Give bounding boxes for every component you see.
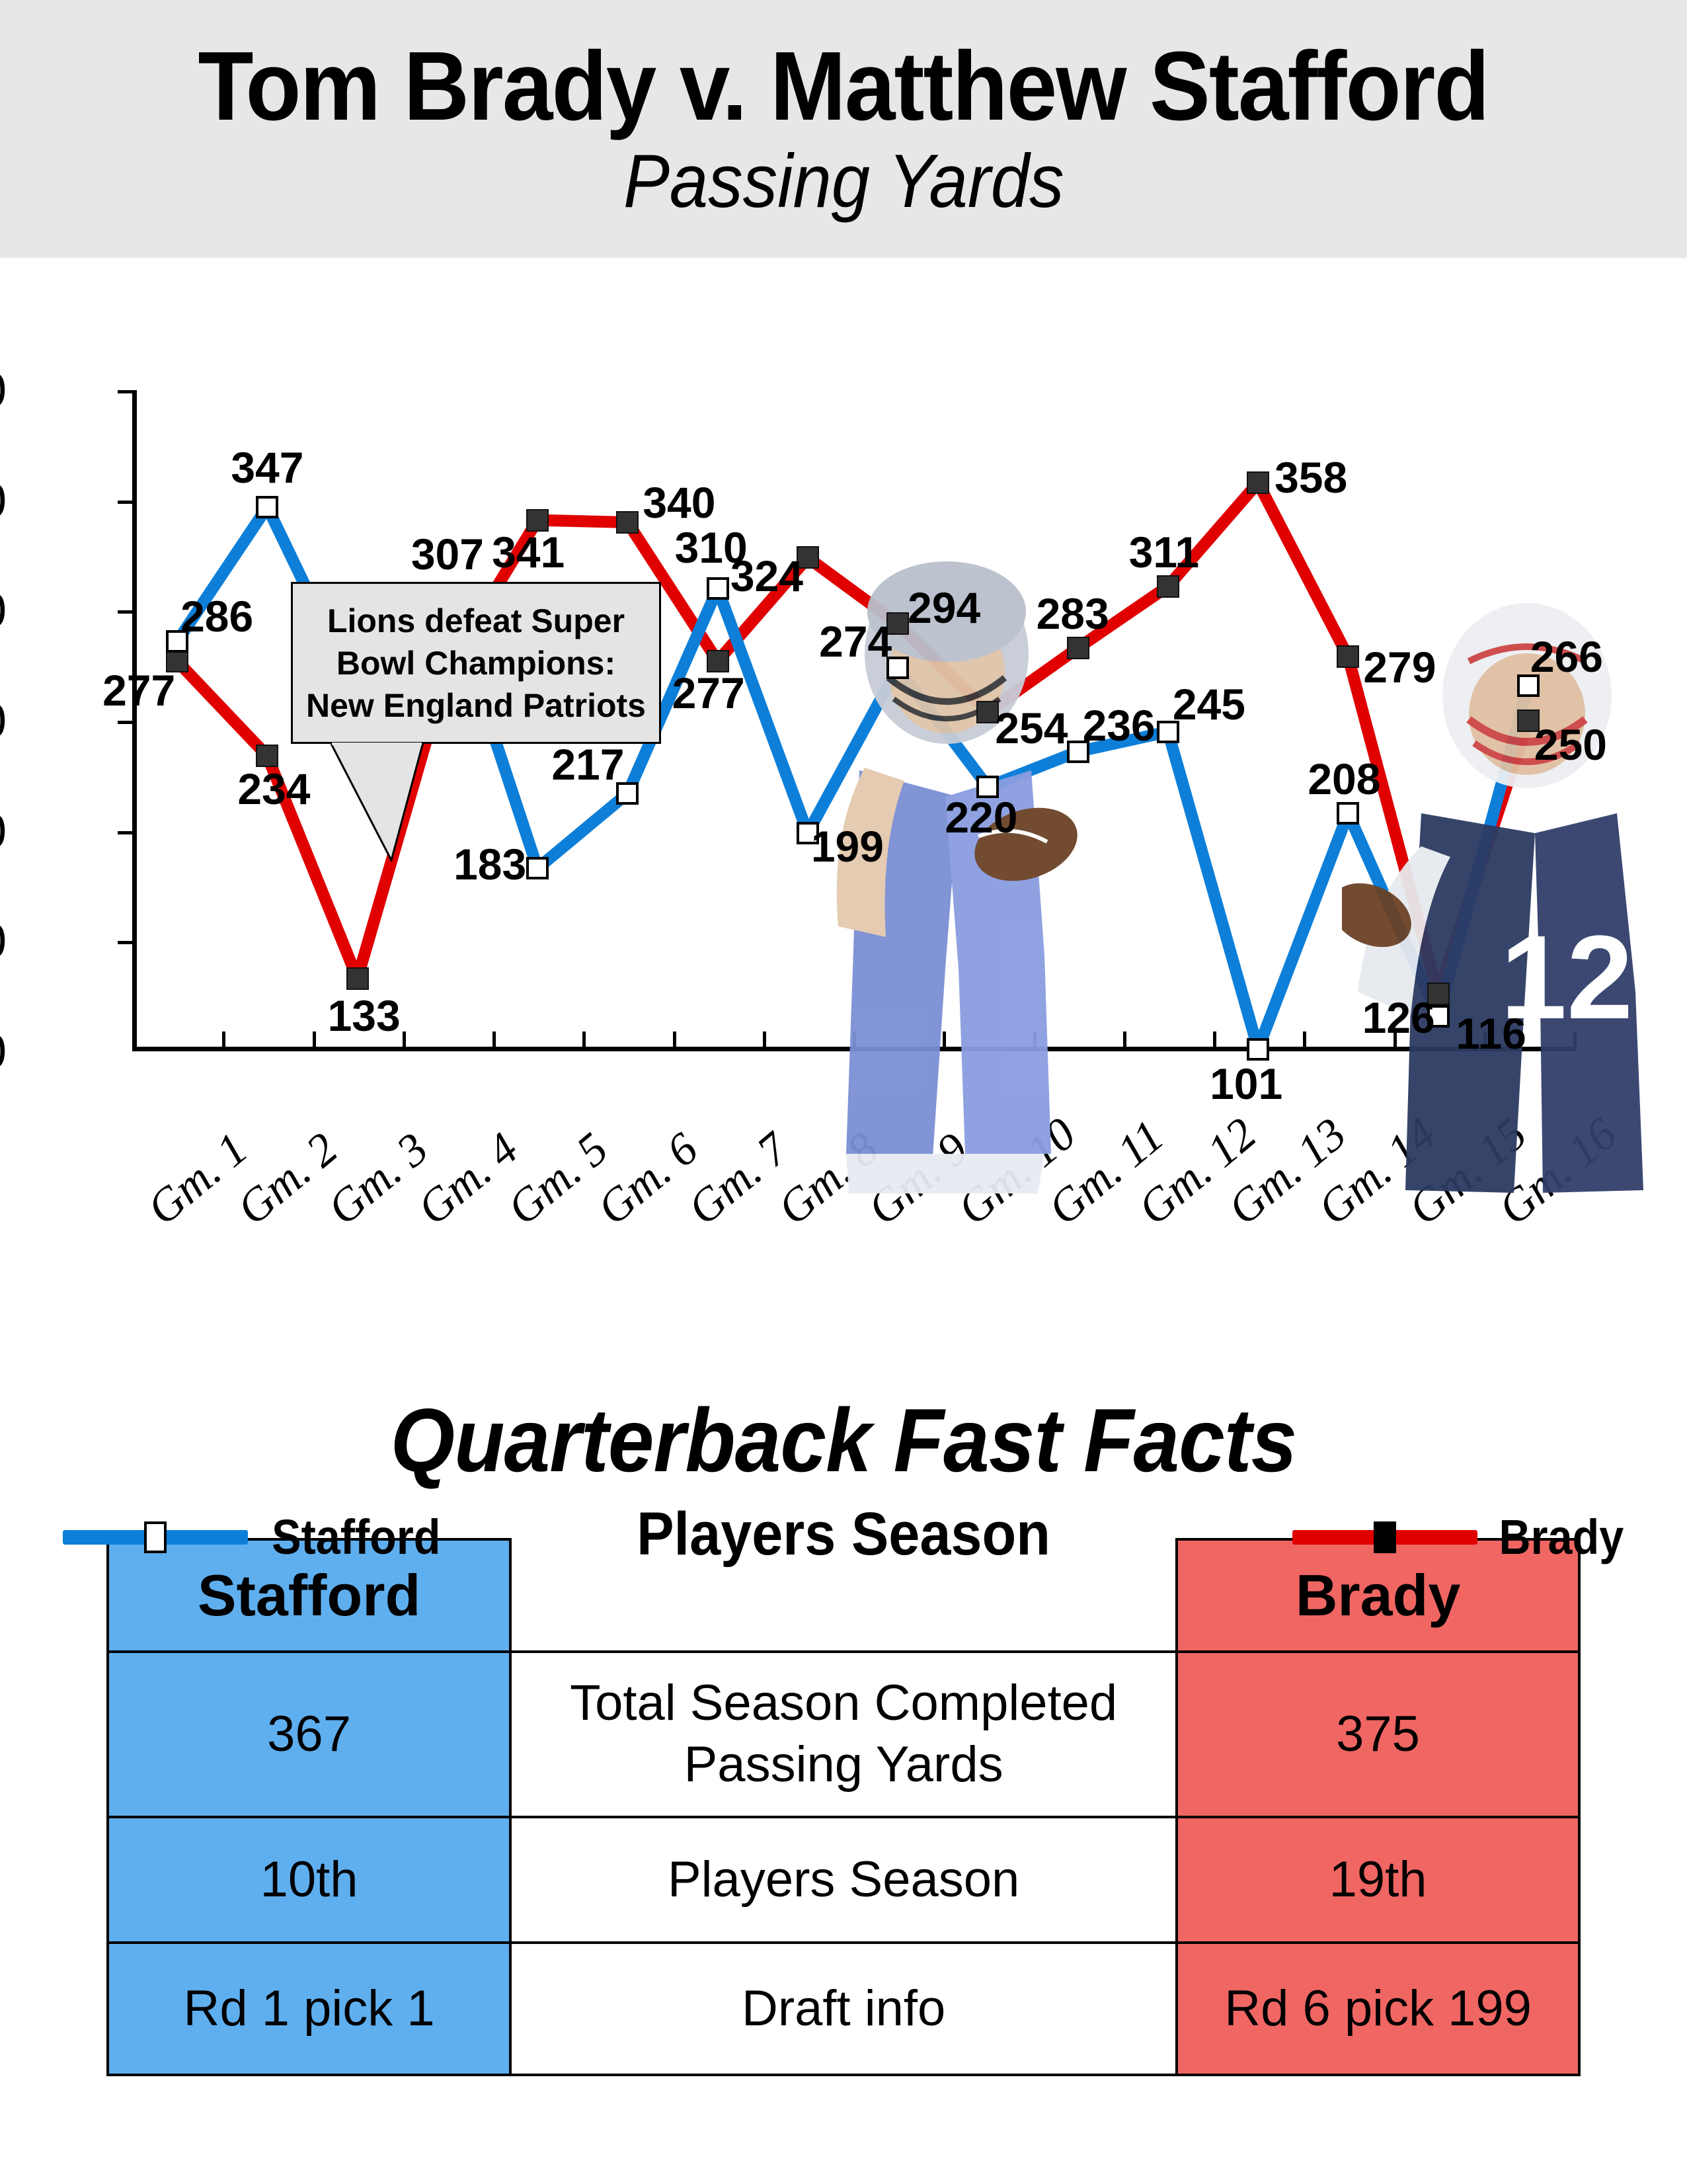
annotation-pointer: [331, 743, 443, 862]
data-point-label: 283: [1037, 588, 1109, 639]
x-axis-tick-label: Gm. 6: [588, 1123, 709, 1236]
data-point-marker: [1157, 575, 1179, 598]
data-point-marker: [1247, 471, 1269, 494]
x-axis-tick-label: Gm. 7: [678, 1123, 799, 1236]
data-point-label: 266: [1530, 631, 1603, 682]
data-point-label: 250: [1534, 719, 1607, 770]
filled-square-marker-icon: [1374, 1521, 1396, 1553]
y-axis-tick-label: 400: [0, 362, 7, 419]
data-point-label: 294: [908, 583, 980, 633]
legend-item-brady[interactable]: Brady: [1292, 1509, 1631, 1565]
page-header: Tom Brady v. Matthew Stafford Passing Ya…: [0, 0, 1687, 258]
y-axis-tick-mark: [118, 390, 132, 393]
x-axis-tick-mark: [313, 1031, 316, 1051]
data-point-label: 208: [1308, 754, 1380, 804]
x-axis-tick-mark: [1123, 1031, 1126, 1051]
cell-label-passing-yards: Total Season Completed Passing Yards: [510, 1652, 1177, 1817]
x-axis-tick-label: Gm. 2: [227, 1123, 348, 1236]
x-axis-tick-mark: [222, 1031, 225, 1051]
data-point-label: 236: [1083, 700, 1156, 750]
table-row: 367 Total Season Completed Passing Yards…: [108, 1652, 1579, 1817]
x-axis-tick-label: Gm. 5: [498, 1123, 619, 1236]
x-axis-tick-mark: [853, 1031, 856, 1051]
y-axis-tick-mark: [118, 501, 132, 504]
data-point-label: 183: [453, 839, 526, 889]
x-axis-tick-mark: [403, 1031, 406, 1051]
data-point-marker: [256, 496, 278, 518]
table-row: Rd 1 pick 1 Draft info Rd 6 pick 199: [108, 1943, 1579, 2075]
data-point-label: 286: [180, 591, 253, 641]
annotation-text: Lions defeat Super Bowl Champions: New E…: [293, 600, 659, 727]
data-point-marker: [1337, 802, 1359, 825]
cell-label-draft: Draft info: [510, 1943, 1177, 2075]
y-axis-tick-label: 350: [0, 472, 7, 528]
data-point-label: 133: [328, 991, 401, 1041]
data-point-label: 245: [1173, 679, 1245, 729]
data-point-label: 126: [1362, 992, 1435, 1043]
data-point-marker: [707, 577, 729, 600]
data-point-label: 220: [945, 792, 1017, 842]
x-axis-tick-mark: [1573, 1031, 1577, 1051]
y-axis-tick-label: 100: [0, 1024, 7, 1080]
x-axis-tick-mark: [673, 1031, 676, 1051]
table-row: 10th Players Season 19th: [108, 1817, 1579, 1943]
cell-stafford-draft: Rd 1 pick 1: [108, 1943, 510, 2075]
cell-stafford-season: 10th: [108, 1817, 510, 1943]
x-axis-tick-mark: [1033, 1031, 1037, 1051]
y-axis-tick-mark: [118, 610, 132, 614]
data-point-label: 341: [492, 527, 565, 577]
x-axis-tick-label: Gm. 1: [137, 1123, 258, 1236]
page-subtitle: Passing Yards: [623, 142, 1064, 222]
x-axis-tick-mark: [763, 1031, 766, 1051]
quarterback-facts-table: Stafford Brady 367 Total Season Complete…: [106, 1538, 1581, 2076]
chart-container: 12 2863472623071832173101992742202362451…: [0, 258, 1687, 1349]
annotation-callout: Lions defeat Super Bowl Champions: New E…: [291, 582, 661, 744]
cell-brady-passing-yards: 375: [1177, 1652, 1579, 1817]
data-point-label: 234: [237, 764, 310, 814]
x-axis-tick-mark: [1303, 1031, 1306, 1051]
data-point-label: 217: [551, 739, 624, 789]
chart-legend: Stafford Brady: [0, 1501, 1687, 1587]
data-point-marker: [1067, 637, 1089, 659]
x-axis-tick-label: Gm. 3: [318, 1123, 439, 1236]
data-point-label: 199: [811, 821, 884, 871]
data-point-label: 324: [730, 551, 803, 601]
cell-brady-season: 19th: [1177, 1817, 1579, 1943]
data-point-label: 254: [995, 703, 1068, 753]
stafford-legend-swatch: [63, 1530, 248, 1545]
data-point-label: 311: [1129, 527, 1199, 577]
y-axis-tick-label: 200: [0, 803, 7, 859]
y-axis-tick-mark: [118, 721, 132, 724]
data-point-label: 307: [411, 529, 484, 579]
data-point-label: 277: [102, 665, 175, 715]
data-point-label: 279: [1363, 642, 1436, 692]
data-point-label: 277: [672, 668, 745, 718]
data-point-label: 347: [231, 442, 303, 493]
x-axis-tick-mark: [492, 1031, 496, 1051]
data-point-marker: [346, 967, 369, 990]
data-point-label: 340: [643, 477, 715, 528]
y-axis-tick-mark: [118, 941, 132, 944]
y-axis-tick-label: 150: [0, 913, 7, 969]
data-point-label: 274: [819, 616, 892, 667]
x-axis-tick-label: Gm. 4: [408, 1123, 529, 1236]
x-axis-tick-label: Gm. 8: [768, 1123, 889, 1236]
legend-item-stafford[interactable]: Stafford: [63, 1509, 450, 1565]
y-axis-tick-mark: [118, 831, 132, 834]
x-axis-tick-mark: [1213, 1031, 1216, 1051]
page-title: Tom Brady v. Matthew Stafford: [198, 37, 1489, 137]
y-axis-tick-label: 300: [0, 583, 7, 639]
legend-label-stafford: Stafford: [272, 1509, 440, 1565]
legend-label-brady: Brady: [1499, 1509, 1624, 1565]
open-square-marker-icon: [144, 1521, 167, 1553]
cell-stafford-passing-yards: 367: [108, 1652, 510, 1817]
data-point-label: 358: [1275, 452, 1347, 503]
data-point-marker: [1247, 1038, 1269, 1061]
data-point-label: 101: [1210, 1059, 1282, 1109]
facts-section-title: Quarterback Fast Facts: [67, 1389, 1620, 1492]
data-point-marker: [526, 857, 549, 879]
y-axis-tick-label: 250: [0, 693, 7, 749]
brady-legend-swatch: [1292, 1530, 1477, 1545]
data-point-marker: [616, 511, 639, 534]
x-axis-tick-label: Gm. 9: [858, 1123, 979, 1236]
data-point-marker: [1337, 645, 1359, 668]
x-axis-tick-mark: [582, 1031, 586, 1051]
x-axis-tick-mark: [943, 1031, 946, 1051]
data-point-label: 116: [1456, 1008, 1526, 1059]
cell-label-season: Players Season: [510, 1817, 1177, 1943]
cell-brady-draft: Rd 6 pick 199: [1177, 1943, 1579, 2075]
